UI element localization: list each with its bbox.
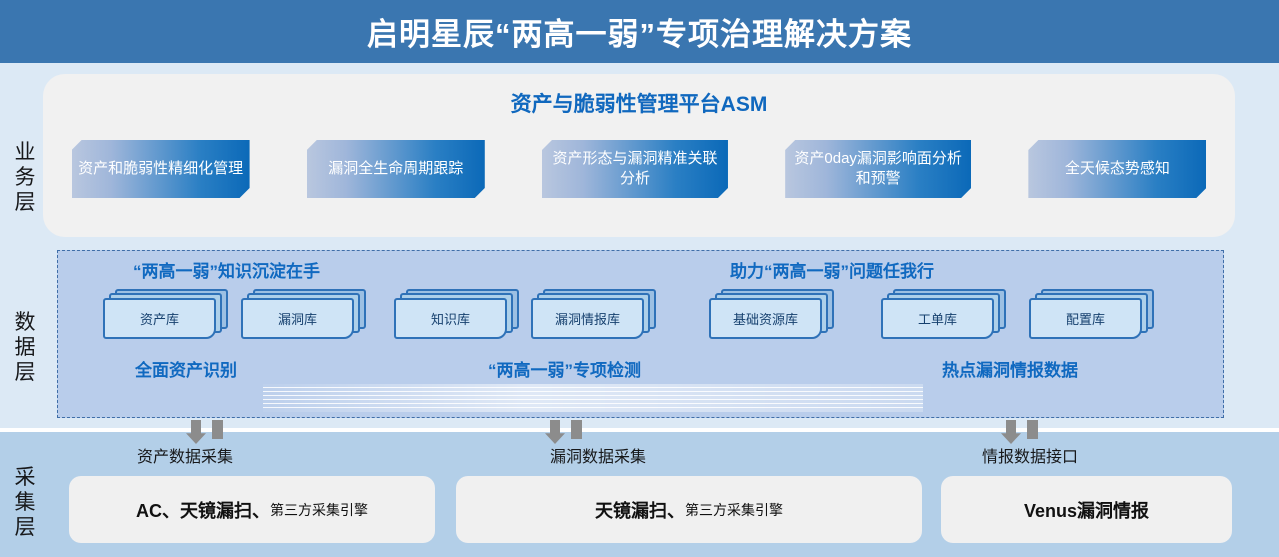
data-layer-panel: “两高一弱”知识沉淀在手 助力“两高一弱”问题任我行 资产库 漏洞库 知识库 xyxy=(57,250,1224,418)
database-stack[interactable]: 配置库 xyxy=(1029,289,1156,341)
business-capability-card[interactable]: 全天候态势感知 xyxy=(1028,140,1206,198)
data-layer-heading-left: “两高一弱”知识沉淀在手 xyxy=(133,257,320,282)
flow-arrow-vuln xyxy=(545,420,585,444)
flow-arrow-asset xyxy=(186,420,226,444)
collection-source-primary: Venus漏洞情报 xyxy=(1024,497,1149,523)
database-stack[interactable]: 基础资源库 xyxy=(709,289,836,341)
database-stack[interactable]: 资产库 xyxy=(103,289,230,341)
collection-caption-vuln: 漏洞数据采集 xyxy=(550,443,646,467)
database-label: 漏洞库 xyxy=(241,298,354,339)
data-subtitle-detection: “两高一弱”专项检测 xyxy=(488,356,641,381)
layer-label-collection: 采集层 xyxy=(8,465,42,540)
diagram-canvas: 启明星辰“两高一弱”专项治理解决方案 业务层 数据层 采集层 资产与脆弱性管理平… xyxy=(0,0,1279,557)
down-arrow-icon xyxy=(186,420,206,444)
arrow-bar-icon xyxy=(212,420,223,439)
business-capability-card[interactable]: 资产0day漏洞影响面分析和预警 xyxy=(785,140,971,198)
collection-caption-asset: 资产数据采集 xyxy=(137,443,233,467)
database-stack[interactable]: 工单库 xyxy=(881,289,1008,341)
business-capability-card[interactable]: 资产形态与漏洞精准关联分析 xyxy=(542,140,728,198)
database-stack[interactable]: 漏洞情报库 xyxy=(531,289,658,341)
asm-platform-panel: 资产与脆弱性管理平台ASM 资产和脆弱性精细化管理 漏洞全生命周期跟踪 资产形态… xyxy=(43,74,1235,237)
business-capability-row: 资产和脆弱性精细化管理 漏洞全生命周期跟踪 资产形态与漏洞精准关联分析 资产0d… xyxy=(43,140,1235,202)
collection-source-card[interactable]: 天镜漏扫、 第三方采集引擎 xyxy=(456,476,922,543)
database-label: 工单库 xyxy=(881,298,994,339)
database-label: 漏洞情报库 xyxy=(531,298,644,339)
arrow-bar-icon xyxy=(571,420,582,439)
collection-source-primary: 天镜漏扫、 xyxy=(595,497,685,523)
data-layer-heading-right: 助力“两高一弱”问题任我行 xyxy=(730,257,934,282)
database-label: 资产库 xyxy=(103,298,216,339)
database-label: 基础资源库 xyxy=(709,298,822,339)
page-title: 启明星辰“两高一弱”专项治理解决方案 xyxy=(367,9,912,54)
business-capability-card[interactable]: 资产和脆弱性精细化管理 xyxy=(72,140,250,198)
decorative-stripe-band xyxy=(263,384,923,412)
data-subtitle-asset: 全面资产识别 xyxy=(135,356,237,381)
database-label: 知识库 xyxy=(394,298,507,339)
layer-label-data: 数据层 xyxy=(8,310,42,385)
collection-source-primary: AC、天镜漏扫、 xyxy=(136,497,270,523)
flow-arrow-intel xyxy=(1001,420,1041,444)
collection-caption-intel: 情报数据接口 xyxy=(982,443,1078,467)
database-stack[interactable]: 漏洞库 xyxy=(241,289,368,341)
down-arrow-icon xyxy=(1001,420,1021,444)
down-arrow-icon xyxy=(545,420,565,444)
database-label: 配置库 xyxy=(1029,298,1142,339)
collection-source-card[interactable]: Venus漏洞情报 xyxy=(941,476,1232,543)
arrow-bar-icon xyxy=(1027,420,1038,439)
database-stack-row: 资产库 漏洞库 知识库 漏洞情报库 xyxy=(58,289,1225,345)
business-capability-card[interactable]: 漏洞全生命周期跟踪 xyxy=(307,140,485,198)
asm-platform-title: 资产与脆弱性管理平台ASM xyxy=(43,88,1235,118)
database-stack[interactable]: 知识库 xyxy=(394,289,521,341)
data-subtitle-intel: 热点漏洞情报数据 xyxy=(942,356,1078,381)
collection-source-card[interactable]: AC、天镜漏扫、 第三方采集引擎 xyxy=(69,476,435,543)
collection-source-secondary: 第三方采集引擎 xyxy=(685,500,783,520)
page-header: 启明星辰“两高一弱”专项治理解决方案 xyxy=(0,0,1279,63)
layer-label-business: 业务层 xyxy=(8,140,42,215)
collection-source-secondary: 第三方采集引擎 xyxy=(270,500,368,520)
